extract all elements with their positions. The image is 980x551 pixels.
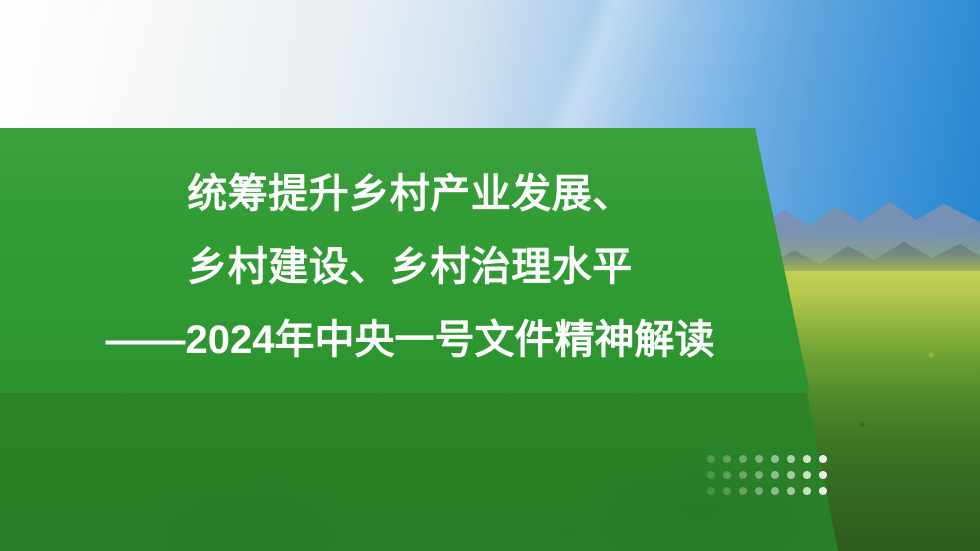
- title-line-2: 乡村建设、乡村治理水平: [0, 231, 820, 304]
- decorative-dot: [739, 455, 747, 463]
- decorative-dot: [723, 487, 731, 495]
- decorative-dot: [787, 455, 795, 463]
- presentation-slide: 统筹提升乡村产业发展、 乡村建设、乡村治理水平 ——2024年中央一号文件精神解…: [0, 0, 980, 551]
- title-line-3-subtitle: ——2024年中央一号文件精神解读: [0, 304, 820, 377]
- decorative-dot: [755, 487, 763, 495]
- decorative-dot: [771, 487, 779, 495]
- decorative-dot: [723, 455, 731, 463]
- decorative-dot: [755, 455, 763, 463]
- decorative-dot: [707, 471, 715, 479]
- slide-title: 统筹提升乡村产业发展、 乡村建设、乡村治理水平 ——2024年中央一号文件精神解…: [0, 158, 820, 377]
- decorative-dot: [787, 471, 795, 479]
- decorative-dot: [803, 487, 811, 495]
- decorative-dot: [803, 471, 811, 479]
- decorative-dot: [739, 471, 747, 479]
- decorative-dot: [803, 455, 811, 463]
- decorative-dot: [787, 487, 795, 495]
- decorative-dot: [819, 487, 827, 495]
- decorative-dot: [755, 471, 763, 479]
- decorative-dot: [771, 471, 779, 479]
- decorative-dot: [723, 471, 731, 479]
- decorative-dot: [739, 487, 747, 495]
- title-line-1: 统筹提升乡村产业发展、: [0, 158, 820, 231]
- decorative-dot: [707, 487, 715, 495]
- decorative-dot-grid: [707, 455, 830, 498]
- decorative-dot: [819, 455, 827, 463]
- decorative-dot: [707, 455, 715, 463]
- decorative-dot: [819, 471, 827, 479]
- decorative-dot: [771, 455, 779, 463]
